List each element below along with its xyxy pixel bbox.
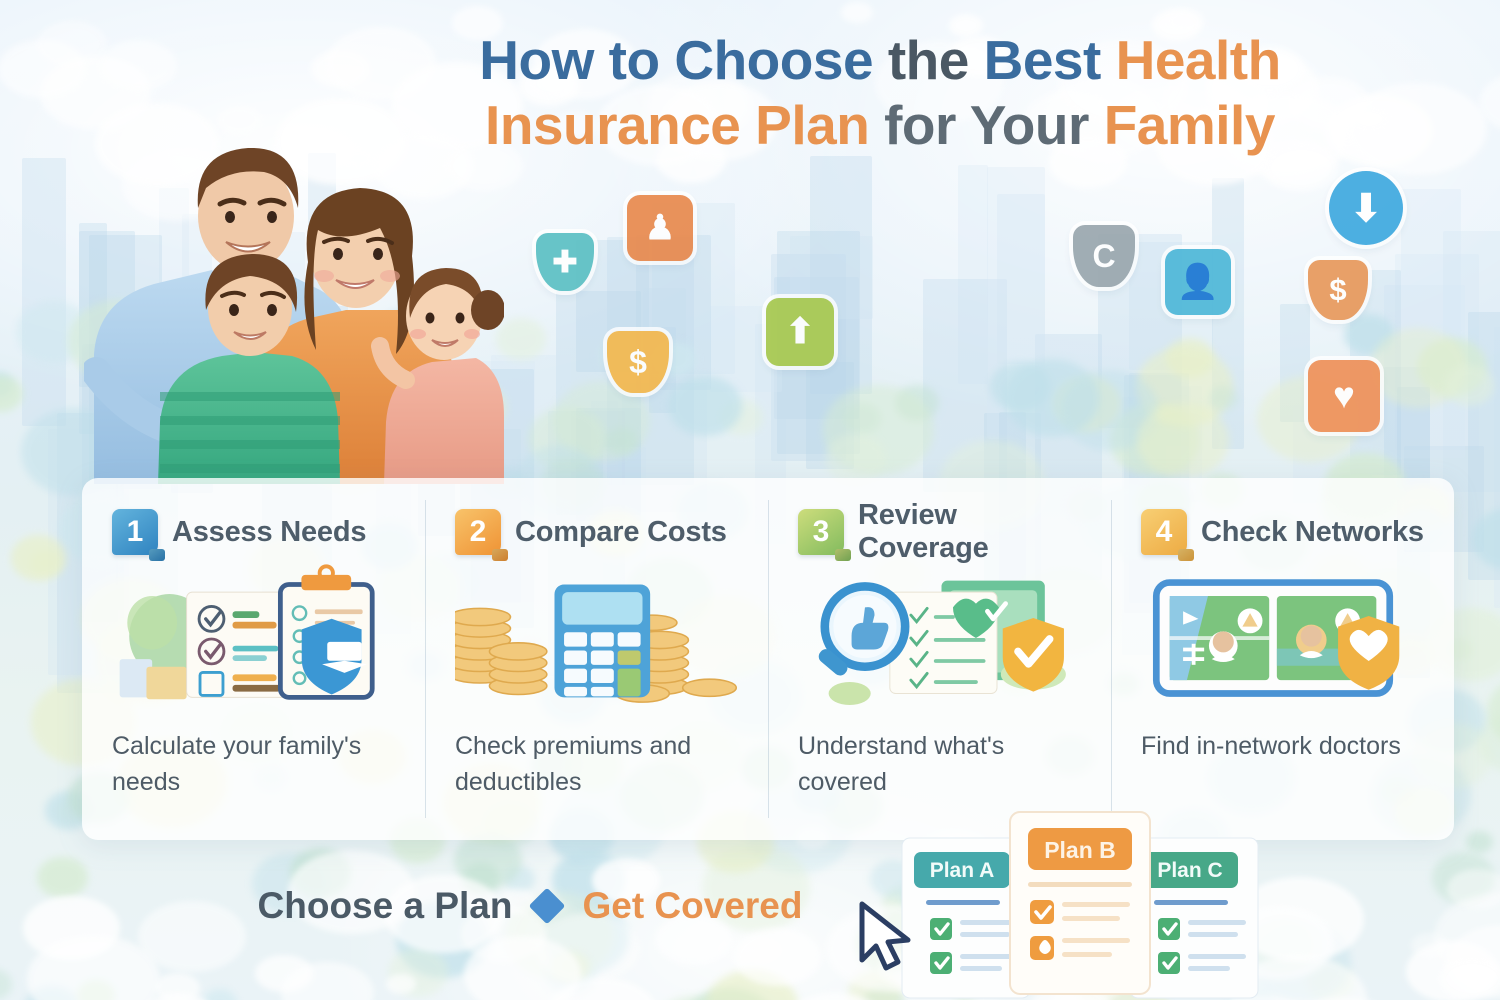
svg-text:Plan B: Plan B: [1044, 837, 1116, 863]
step-2-number-badge: 2: [455, 509, 501, 555]
diamond-separator: [529, 888, 566, 925]
step-card-1[interactable]: 1 Assess Needs: [82, 478, 425, 840]
title-run-3: Health: [1116, 29, 1281, 91]
plan-card-b: Plan B: [1010, 812, 1150, 994]
download-arrow-circle-icon: ⬇: [1329, 171, 1403, 245]
step-3-title: Review Coverage: [858, 499, 1085, 565]
title-run-1: for Your: [884, 94, 1104, 156]
family-of-four-illustration: [84, 104, 504, 484]
mouse-pointer-cursor: [852, 898, 922, 972]
step-4-description: Find in-network doctors: [1141, 728, 1428, 764]
member-card-icon: 👤: [1165, 249, 1231, 315]
step-2-header: 2 Compare Costs: [455, 508, 742, 556]
footer-call-to-action: Choose a Plan Get Covered: [150, 885, 910, 927]
title-run-0: Insurance Plan: [485, 94, 884, 156]
steps-panel: 1 Assess Needs: [82, 478, 1454, 840]
step-4-header: 4 Check Networks: [1141, 508, 1428, 556]
step-3-header: 3 Review Coverage: [798, 508, 1085, 556]
step-1-number-badge: 1: [112, 509, 158, 555]
title-run-2: Best: [984, 29, 1116, 91]
calculator-coin-stacks-art: [455, 564, 742, 714]
plan-comparison-cards[interactable]: Plan A Plan C: [900, 808, 1260, 1000]
page-title: How to Choose the Best Health Insurance …: [390, 28, 1370, 158]
clipboard-checklist-shield-art: [112, 564, 399, 714]
step-1-description: Calculate your family's needs: [112, 728, 399, 800]
svg-text:Plan C: Plan C: [1157, 859, 1222, 882]
heart-hands-care-icon: ♥: [1308, 360, 1380, 432]
upload-arrow-icon: ⬆: [766, 298, 834, 366]
page-title-line-2: Insurance Plan for Your Family: [390, 93, 1370, 158]
step-3-description: Understand what's covered: [798, 728, 1085, 800]
step-3-number-badge: 3: [798, 509, 844, 555]
step-4-number-badge: 4: [1141, 509, 1187, 555]
tablet-doctor-map-shield-art: [1141, 564, 1428, 714]
choose-a-plan-label: Choose a Plan: [258, 885, 513, 927]
magnifier-document-shield-art: [798, 564, 1085, 714]
step-card-2[interactable]: 2 Compare Costs: [425, 478, 768, 840]
step-2-description: Check premiums and deductibles: [455, 728, 742, 800]
family-chat-bubble-icon: ♟: [627, 195, 693, 261]
step-1-header: 1 Assess Needs: [112, 508, 399, 556]
step-1-title: Assess Needs: [172, 516, 366, 549]
page-title-line-1: How to Choose the Best Health: [479, 29, 1280, 91]
title-run-0: How to Choose: [479, 29, 888, 91]
title-run-1: the: [888, 29, 984, 91]
step-card-3[interactable]: 3 Review Coverage: [768, 478, 1111, 840]
step-2-title: Compare Costs: [515, 516, 727, 549]
get-covered-label: Get Covered: [582, 885, 802, 927]
step-4-title: Check Networks: [1201, 516, 1424, 549]
title-run-2: Family: [1104, 94, 1275, 156]
svg-text:Plan A: Plan A: [930, 859, 995, 882]
step-card-4[interactable]: 4 Check Networks: [1111, 478, 1454, 840]
